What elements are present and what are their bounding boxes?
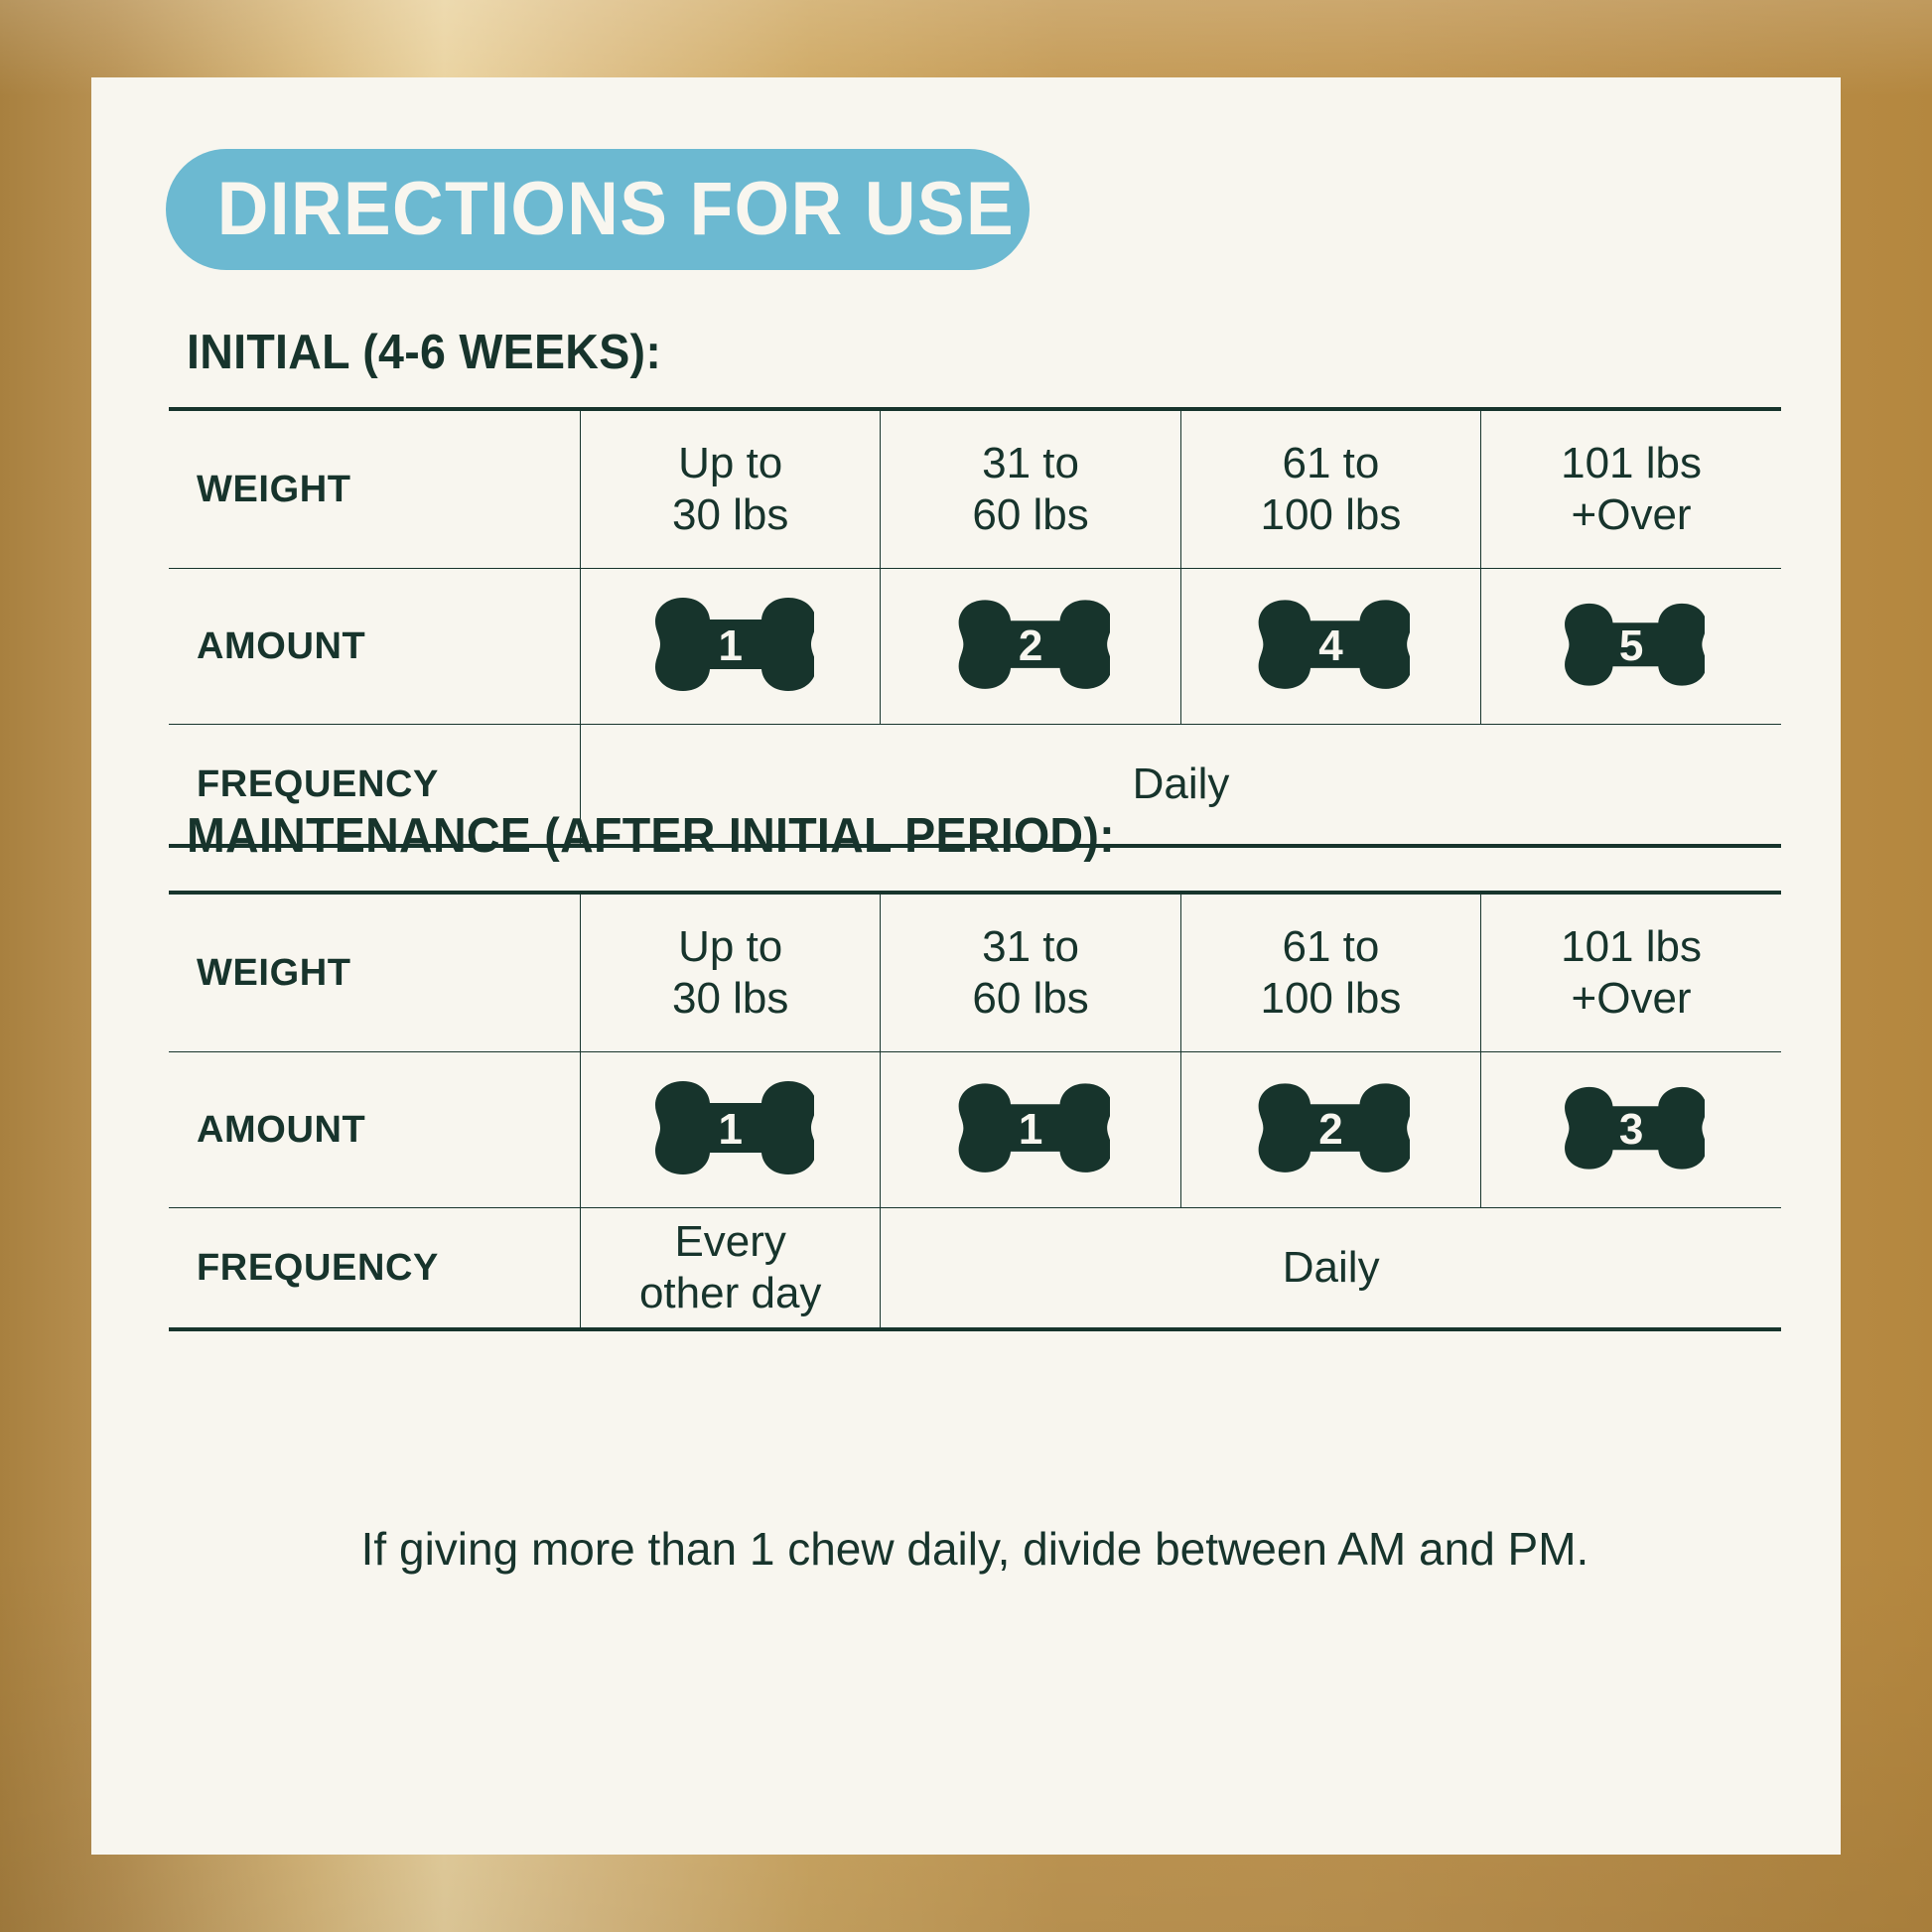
row-label-weight: WEIGHT [169, 893, 581, 1052]
directions-title-banner: DIRECTIONS FOR USE [166, 149, 1030, 270]
frequency-cell: Every other day [581, 1208, 881, 1330]
weight-cell: Up to 30 lbs [581, 893, 881, 1052]
bone-icon: 4 [1251, 596, 1410, 697]
weight-line1: 61 to [1181, 438, 1480, 489]
weight-line1: 31 to [881, 921, 1179, 973]
table-row-weight: WEIGHT Up to 30 lbs 31 to 60 lbs 61 to 1… [169, 893, 1781, 1052]
table-row-weight: WEIGHT Up to 30 lbs 31 to 60 lbs 61 to 1… [169, 409, 1781, 569]
weight-cell: 31 to 60 lbs [881, 893, 1180, 1052]
section-heading-maintenance: MAINTENANCE (AFTER INITIAL PERIOD): [187, 812, 1702, 861]
table-row-frequency: FREQUENCY Every other day Daily [169, 1208, 1781, 1330]
weight-cell: 61 to 100 lbs [1180, 893, 1480, 1052]
amount-cell: 2 [881, 569, 1180, 725]
dosing-table-maintenance: WEIGHT Up to 30 lbs 31 to 60 lbs 61 to 1… [169, 891, 1781, 1331]
weight-line1: 31 to [881, 438, 1179, 489]
amount-cell: 2 [1180, 1052, 1480, 1208]
amount-value: 2 [951, 624, 1110, 668]
weight-line2: +Over [1481, 489, 1781, 541]
bone-icon: 2 [1251, 1079, 1410, 1180]
amount-value: 1 [647, 1108, 814, 1152]
weight-cell: 101 lbs +Over [1481, 893, 1781, 1052]
dosing-table-initial: WEIGHT Up to 30 lbs 31 to 60 lbs 61 to 1… [169, 407, 1781, 848]
weight-line1: Up to [581, 921, 880, 973]
page-title: DIRECTIONS FOR USE [166, 172, 1015, 247]
bone-icon: 1 [951, 1079, 1110, 1180]
amount-value: 4 [1251, 624, 1410, 668]
amount-value: 1 [951, 1108, 1110, 1152]
bone-icon: 5 [1558, 596, 1705, 697]
weight-line1: Up to [581, 438, 880, 489]
weight-line2: 60 lbs [881, 489, 1179, 541]
amount-cell: 1 [881, 1052, 1180, 1208]
weight-line2: 30 lbs [581, 489, 880, 541]
frequency-cell: Daily [881, 1208, 1781, 1330]
weight-line2: 100 lbs [1181, 489, 1480, 541]
amount-cell: 5 [1481, 569, 1781, 725]
weight-cell: Up to 30 lbs [581, 409, 881, 569]
row-label-frequency: FREQUENCY [169, 1208, 581, 1330]
bone-icon: 1 [647, 1079, 814, 1180]
section-initial: INITIAL (4-6 WEEKS): WEIGHT Up to 30 lbs… [169, 329, 1781, 848]
table-row-amount: AMOUNT 1 [169, 569, 1781, 725]
weight-line1: 61 to [1181, 921, 1480, 973]
frequency-line2: other day [581, 1268, 880, 1319]
table-row-amount: AMOUNT 1 [169, 1052, 1781, 1208]
footnote-text: If giving more than 1 chew daily, divide… [169, 1522, 1781, 1577]
amount-cell: 3 [1481, 1052, 1781, 1208]
section-maintenance: MAINTENANCE (AFTER INITIAL PERIOD): WEIG… [169, 812, 1781, 1331]
weight-line2: +Over [1481, 973, 1781, 1025]
amount-cell: 1 [581, 569, 881, 725]
amount-value: 2 [1251, 1108, 1410, 1152]
amount-value: 3 [1558, 1108, 1705, 1152]
weight-cell: 31 to 60 lbs [881, 409, 1180, 569]
amount-cell: 4 [1180, 569, 1480, 725]
weight-cell: 61 to 100 lbs [1180, 409, 1480, 569]
section-heading-initial: INITIAL (4-6 WEEKS): [187, 329, 1702, 377]
row-label-amount: AMOUNT [169, 1052, 581, 1208]
weight-line1: 101 lbs [1481, 921, 1781, 973]
weight-line2: 60 lbs [881, 973, 1179, 1025]
frequency-line1: Every [581, 1216, 880, 1268]
bone-icon: 3 [1558, 1079, 1705, 1180]
bone-icon: 1 [647, 596, 814, 697]
row-label-weight: WEIGHT [169, 409, 581, 569]
bone-icon: 2 [951, 596, 1110, 697]
weight-line2: 100 lbs [1181, 973, 1480, 1025]
amount-value: 1 [647, 624, 814, 668]
row-label-amount: AMOUNT [169, 569, 581, 725]
weight-line2: 30 lbs [581, 973, 880, 1025]
weight-line1: 101 lbs [1481, 438, 1781, 489]
amount-value: 5 [1558, 624, 1705, 668]
amount-cell: 1 [581, 1052, 881, 1208]
directions-card: DIRECTIONS FOR USE INITIAL (4-6 WEEKS): … [91, 77, 1841, 1855]
weight-cell: 101 lbs +Over [1481, 409, 1781, 569]
